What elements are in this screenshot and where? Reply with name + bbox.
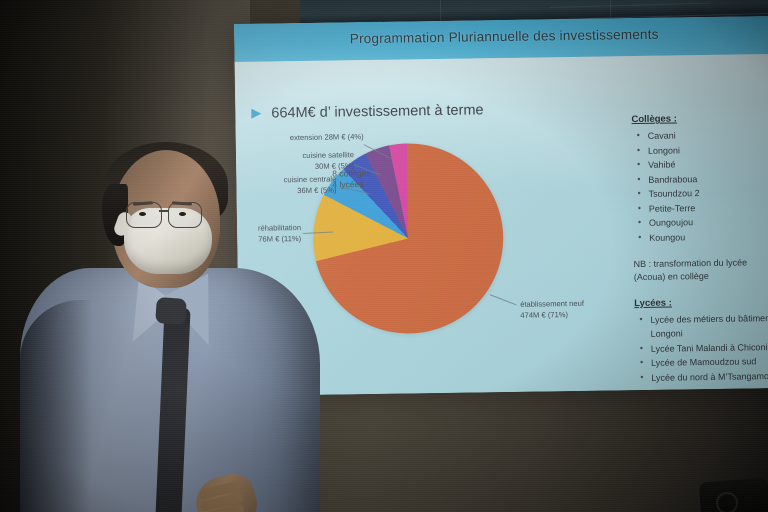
- ceiling-tile-seam: [550, 3, 710, 8]
- list-item: Koungou: [633, 229, 768, 246]
- slide-bullet-text: 664M€ d’ investissement à terme: [271, 102, 483, 121]
- pie-label-extension: extension 28M € (4%): [264, 132, 364, 144]
- necktie-knot: [155, 297, 187, 325]
- transformation-note-line2: (Acoua) en collège: [634, 269, 768, 285]
- list-item: Lycée des métiers du bâtiment à Longoni: [634, 310, 768, 342]
- eye-left: [139, 212, 146, 216]
- lycees-list: Lycée des métiers du bâtiment à Longoni …: [634, 310, 768, 385]
- pie-label-etablissement-neuf: établissement neuf 474M € (71%): [520, 298, 630, 321]
- colleges-heading: Collèges :: [631, 112, 768, 125]
- arrow-bullet-icon: [251, 109, 261, 119]
- eye-right: [179, 212, 186, 216]
- ceiling-tile-seam: [610, 0, 611, 17]
- lycees-heading: Lycées :: [634, 295, 768, 308]
- presenter-torso-shadow: [20, 300, 92, 512]
- slide-bullet: 664M€ d’ investissement à terme: [251, 102, 483, 121]
- transformation-note: NB : transformation du lycée (Acoua) en …: [634, 255, 768, 284]
- pie-label-etablissement-neuf-line2: 474M € (71%): [520, 309, 630, 321]
- ceiling-tile-seam: [440, 0, 441, 22]
- colleges-list: Cavani Longoni Vahibé Bandraboua Tsoundz…: [632, 127, 768, 246]
- slide-right-column: Collèges : Cavani Longoni Vahibé Bandrab…: [631, 112, 768, 386]
- glasses-bridge: [159, 210, 169, 212]
- equipment-knob-icon: [716, 492, 738, 512]
- lycees-block: Lycées : Lycée des métiers du bâtiment à…: [634, 295, 768, 385]
- list-item: Lycée du nord à M’Tsangamouji: [635, 369, 768, 386]
- screenshot-root: Programmation Pluriannuelle des investis…: [0, 0, 768, 512]
- presenter: [0, 150, 360, 512]
